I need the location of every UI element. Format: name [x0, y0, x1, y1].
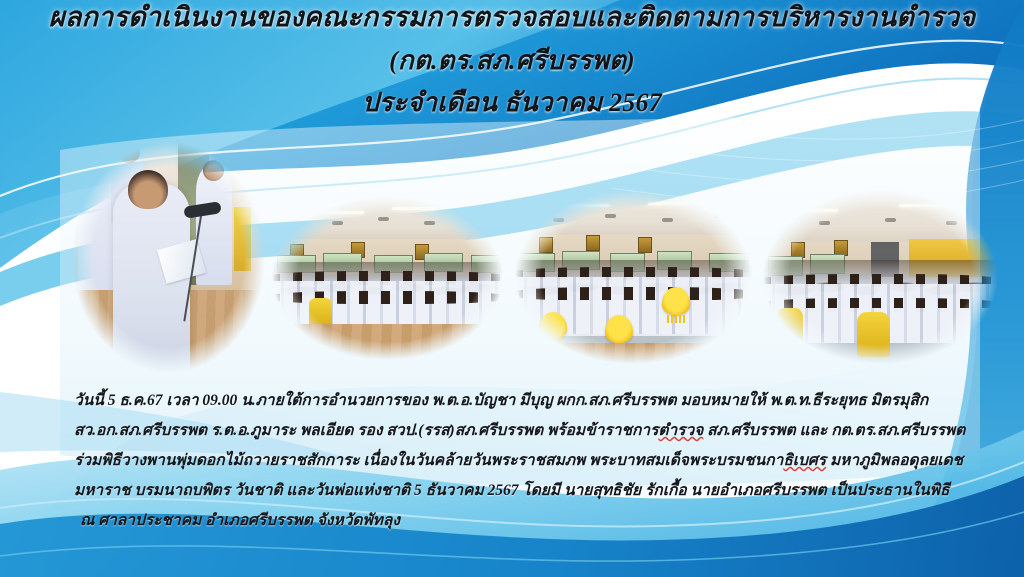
photo-3-content: [515, 190, 752, 364]
photo-2-content: [272, 196, 503, 360]
photo-audience-rear-view[interactable]: [763, 190, 998, 364]
photo-audience-with-pum[interactable]: [515, 190, 752, 364]
photo-4-content: [763, 190, 998, 364]
photo-1-content: [72, 142, 265, 373]
photo-audience-hall-wide[interactable]: [272, 196, 503, 360]
photo-officer-at-microphone[interactable]: [72, 142, 265, 373]
slide-canvas: ผลการดำเนินงานของคณะกรรมการตรวจสอบและติด…: [0, 0, 1024, 577]
